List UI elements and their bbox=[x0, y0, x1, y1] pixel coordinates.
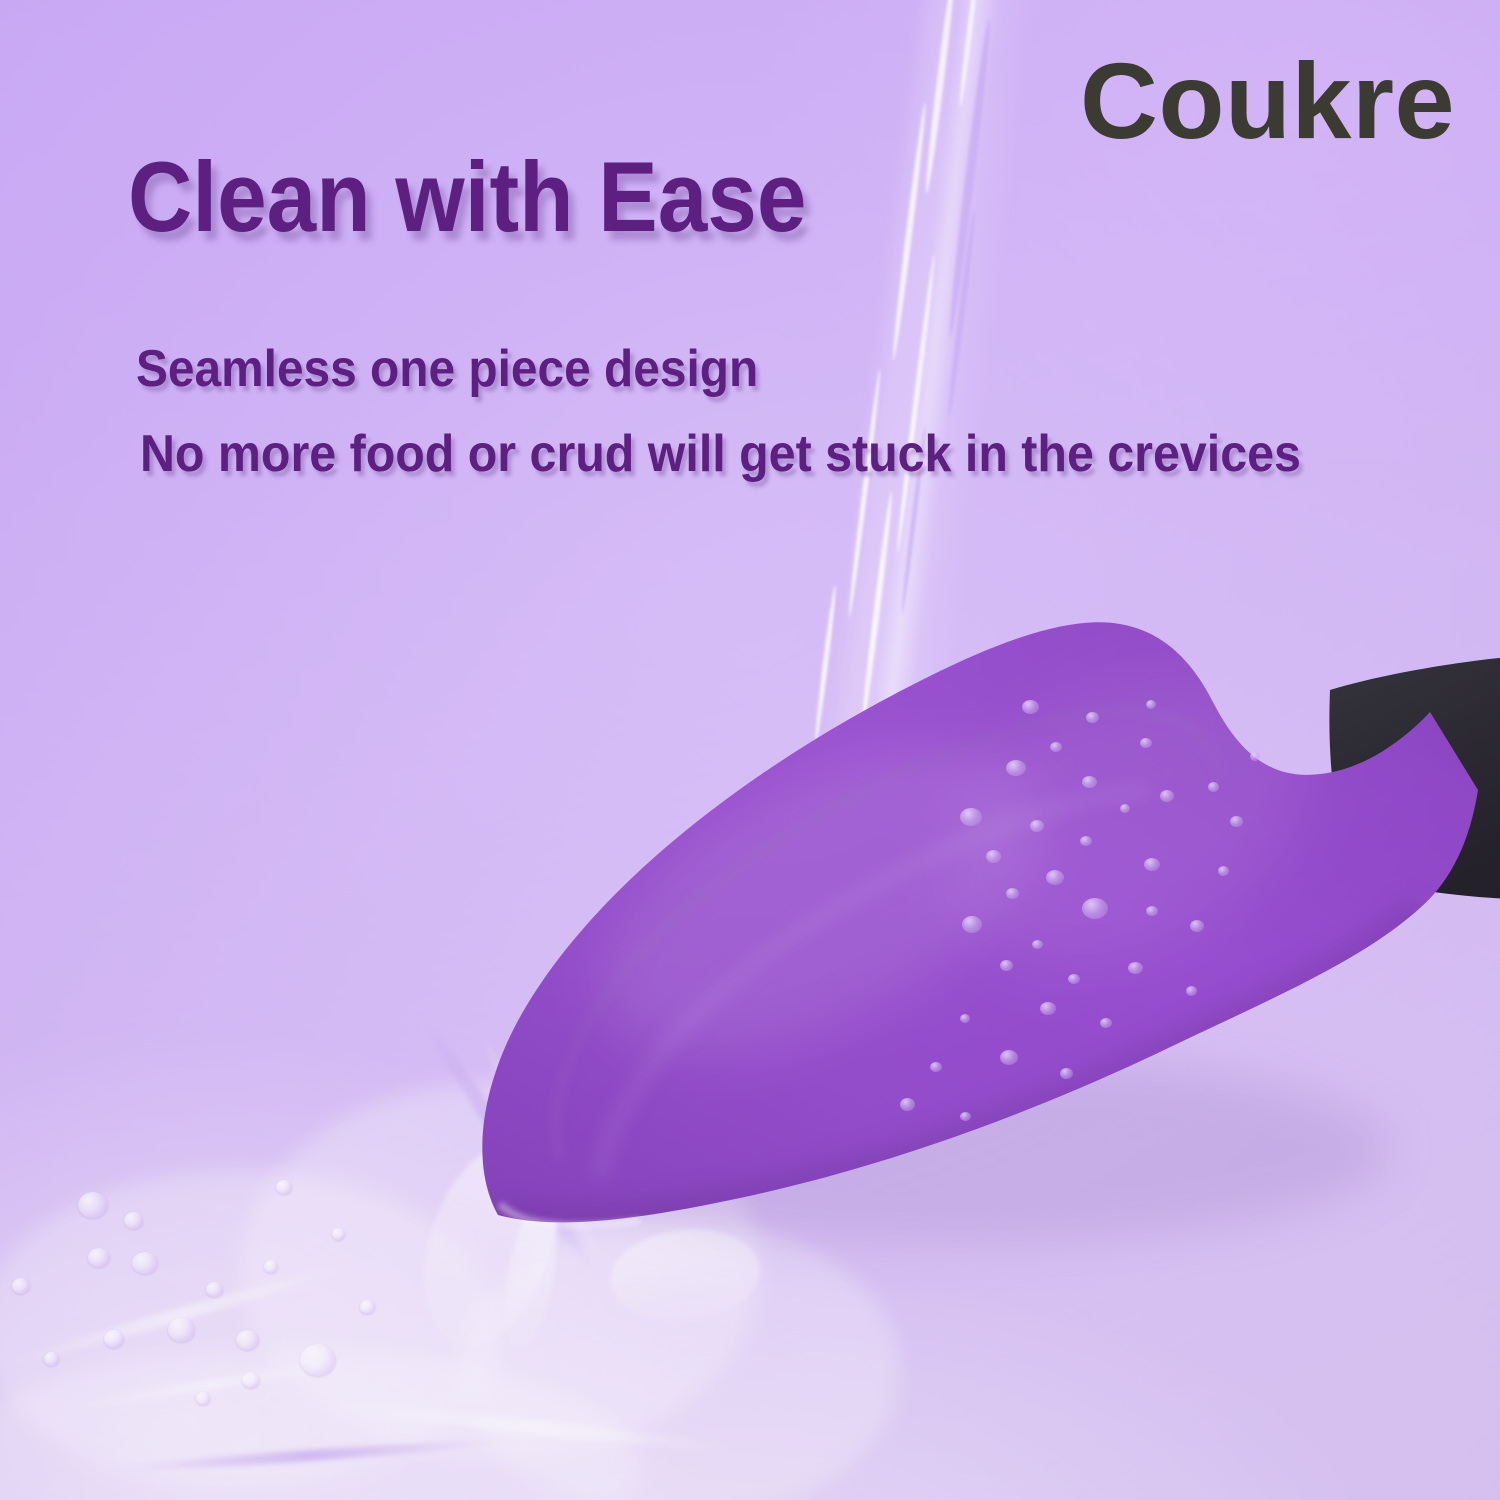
brand-logo-text: Coukre bbox=[1080, 44, 1455, 157]
subheading-seamless-design: Seamless one piece design bbox=[136, 339, 758, 399]
subheading-no-crevices: No more food or crud will get stuck in t… bbox=[140, 424, 1301, 484]
product-banner: Coukre Clean with Ease Seamless one piec… bbox=[0, 0, 1500, 1500]
page-title: Clean with Ease bbox=[128, 144, 806, 251]
